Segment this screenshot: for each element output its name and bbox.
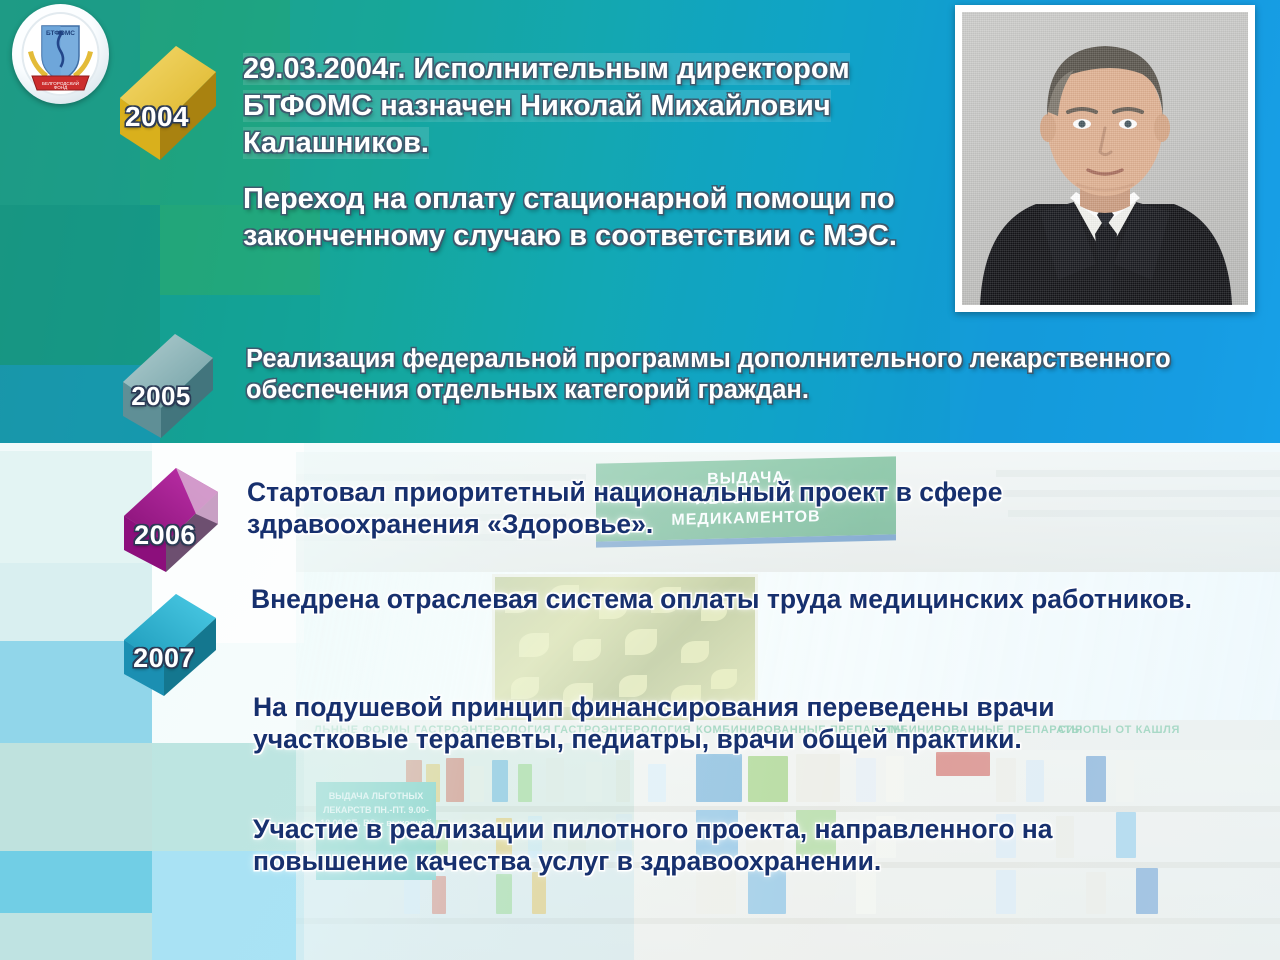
event-text-2007-2: На подушевой принцип финансирования пере… (253, 691, 1213, 756)
year-label: 2006 (108, 480, 222, 590)
event-text-2005-1: Реализация федеральной программы дополни… (246, 344, 1256, 406)
event-text-2004-2: Переход на оплату стационарной помощи по… (243, 181, 943, 255)
year-label: 2004 (98, 56, 216, 178)
event-text-2007-3: Участие в реализации пилотного проекта, … (253, 813, 1213, 878)
emblem-icon: БТФОМС БЕЛГОРОДСКИЙ ФОНД (12, 4, 109, 104)
bg-block (0, 913, 152, 960)
photo-grain (962, 12, 1248, 305)
year-label: 2005 (106, 340, 216, 452)
year-label: 2007 (108, 604, 220, 712)
event-text-2004-1: 29.03.2004г. Исполнительным директором Б… (243, 51, 933, 161)
event-text: 29.03.2004г. Исполнительным директором Б… (243, 53, 850, 159)
bg-block (0, 851, 152, 913)
portrait-frame (955, 5, 1255, 312)
event-text-2007-1: Внедрена отраслевая система оплаты труда… (251, 583, 1231, 615)
bg-block (0, 743, 152, 851)
presentation-slide: БТФОМС БЕЛГОРОДСКИЙ ФОНД 2004 (0, 0, 1280, 960)
organization-logo: БТФОМС БЕЛГОРОДСКИЙ ФОНД (12, 4, 109, 104)
event-text-2006-1: Стартовал приоритетный национальный прое… (247, 476, 1227, 541)
year-badge-2006: 2006 (118, 466, 232, 576)
year-badge-2007: 2007 (118, 592, 230, 700)
year-badge-2005: 2005 (117, 330, 227, 442)
portrait-photo (962, 12, 1248, 305)
svg-text:ФОНД: ФОНД (54, 85, 68, 90)
svg-text:БТФОМС: БТФОМС (46, 30, 75, 37)
year-badge-2004: 2004 (112, 42, 230, 164)
